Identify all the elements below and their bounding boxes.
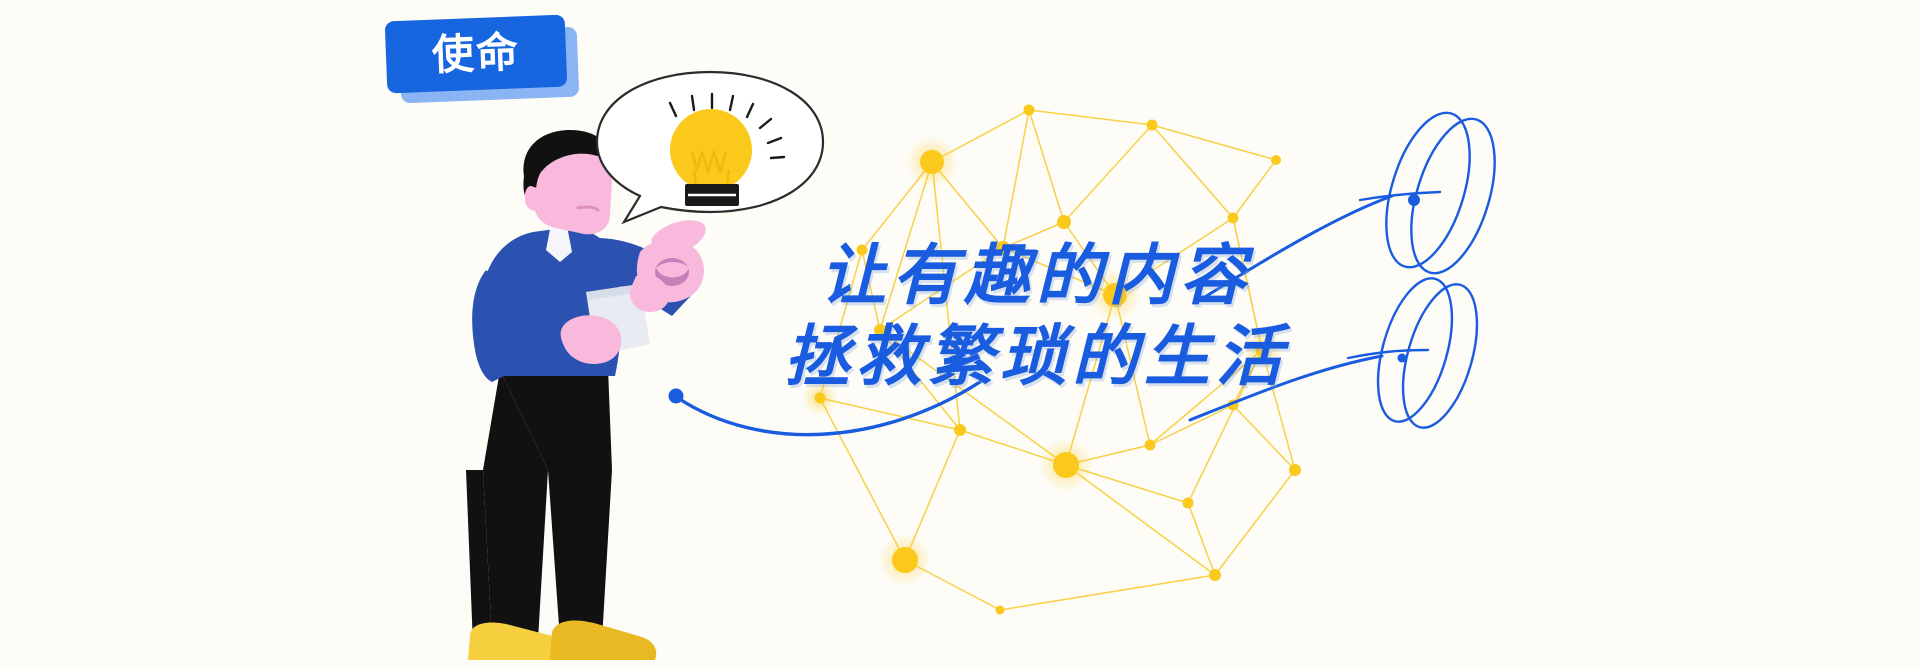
badge-label: 使命 — [431, 31, 521, 76]
badge-body[interactable]: 使命 — [385, 15, 568, 94]
headline-line-2: 拯救繁琐的生活 — [784, 317, 1560, 398]
headline-block: 让有趣的内容 拯救繁琐的生活 — [820, 236, 1560, 397]
headline-line-1: 让有趣的内容 — [820, 236, 1560, 317]
mission-badge[interactable]: 使命 — [386, 12, 586, 108]
mission-banner: 使命 让有趣的内容 拯救繁琐的生活 — [0, 0, 1920, 670]
